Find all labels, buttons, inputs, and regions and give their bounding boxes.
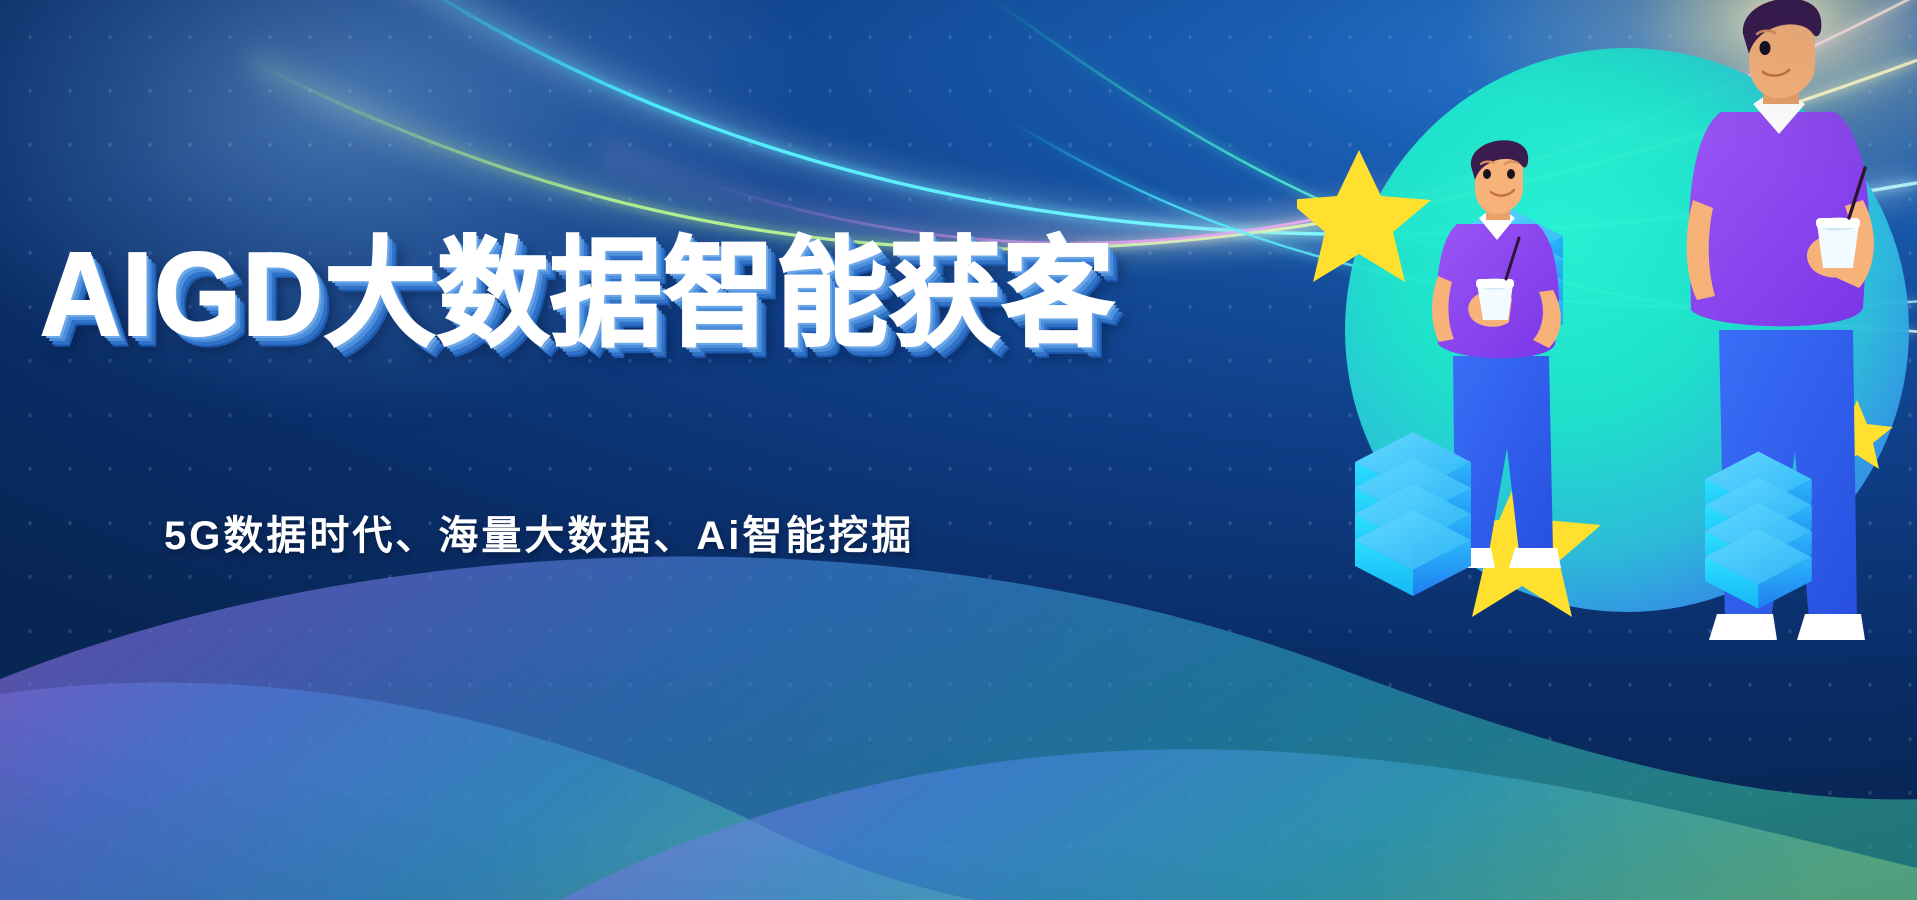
- person-tall-eye: [1760, 41, 1771, 55]
- person-tall-shoe-left: [1709, 614, 1777, 640]
- person-small-eye-right: [1507, 169, 1515, 179]
- banner-title: AIGD大数据智能获客: [40, 232, 1080, 358]
- person-small-shoe-right: [1509, 548, 1561, 568]
- person-small-eye-left: [1483, 169, 1491, 179]
- banner-subtitle: 5G数据时代、海量大数据、Ai智能挖掘: [164, 503, 1080, 561]
- banner-copy-block: AIGD大数据智能获客 5G数据时代、海量大数据、Ai智能挖掘: [40, 232, 1080, 561]
- big-data-people-illustration: [1297, 0, 1917, 700]
- data-server-stack-left: [1355, 432, 1471, 596]
- data-server-stack-right: [1705, 452, 1812, 609]
- promo-banner: AIGD大数据智能获客 5G数据时代、海量大数据、Ai智能挖掘: [0, 0, 1917, 900]
- person-tall-shoe-right: [1797, 614, 1865, 640]
